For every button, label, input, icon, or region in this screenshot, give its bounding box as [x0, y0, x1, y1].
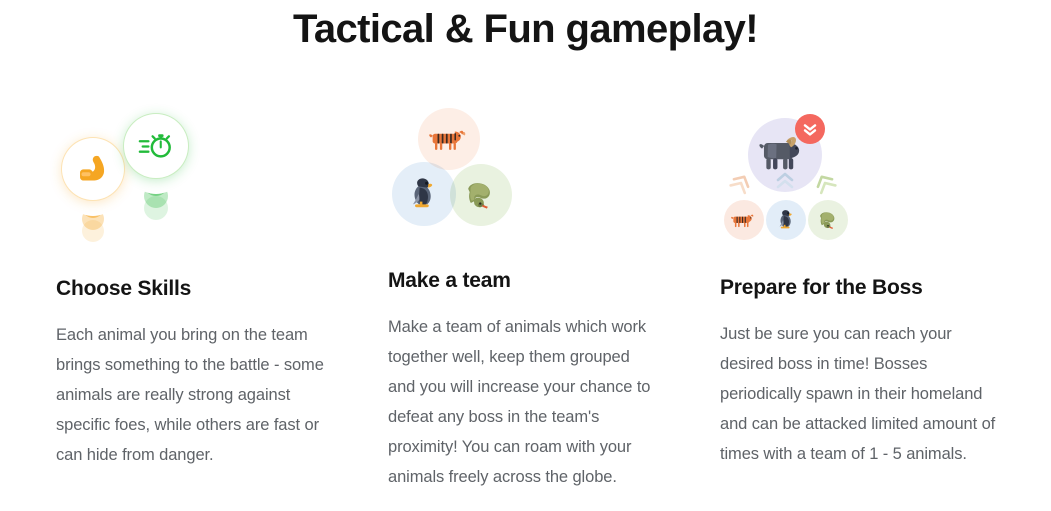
make-a-team-illustration — [388, 100, 683, 250]
column-body: Just be sure you can reach your desired … — [720, 319, 1008, 469]
tiger-icon — [418, 108, 480, 170]
falcon-icon — [392, 162, 456, 226]
double-chevron-down-badge-icon[interactable] — [795, 114, 825, 144]
feature-column-make-a-team: Make a team Make a team of animals which… — [388, 100, 683, 500]
stopwatch-icon — [124, 114, 188, 178]
prepare-for-the-boss-illustration — [720, 100, 1015, 250]
snake-icon — [450, 164, 512, 226]
chevron-up-blue-icon — [774, 170, 796, 192]
column-heading: Prepare for the Boss — [720, 275, 1015, 301]
bicep-icon — [62, 138, 124, 200]
tiger-icon — [724, 200, 764, 240]
snake-icon — [808, 200, 848, 240]
falcon-icon — [766, 200, 806, 240]
chevron-up-orange-icon — [726, 168, 756, 198]
page-title: Tactical & Fun gameplay! — [0, 4, 1051, 54]
column-heading: Make a team — [388, 268, 683, 294]
column-heading: Choose Skills — [56, 276, 351, 302]
column-body: Make a team of animals which work togeth… — [388, 312, 660, 492]
column-body: Each animal you bring on the team brings… — [56, 320, 348, 470]
feature-columns: Choose Skills Each animal you bring on t… — [0, 100, 1051, 500]
feature-column-prepare-for-the-boss: Prepare for the Boss Just be sure you ca… — [720, 100, 1015, 500]
choose-skills-illustration — [56, 100, 351, 250]
feature-column-choose-skills: Choose Skills Each animal you bring on t… — [56, 100, 351, 500]
